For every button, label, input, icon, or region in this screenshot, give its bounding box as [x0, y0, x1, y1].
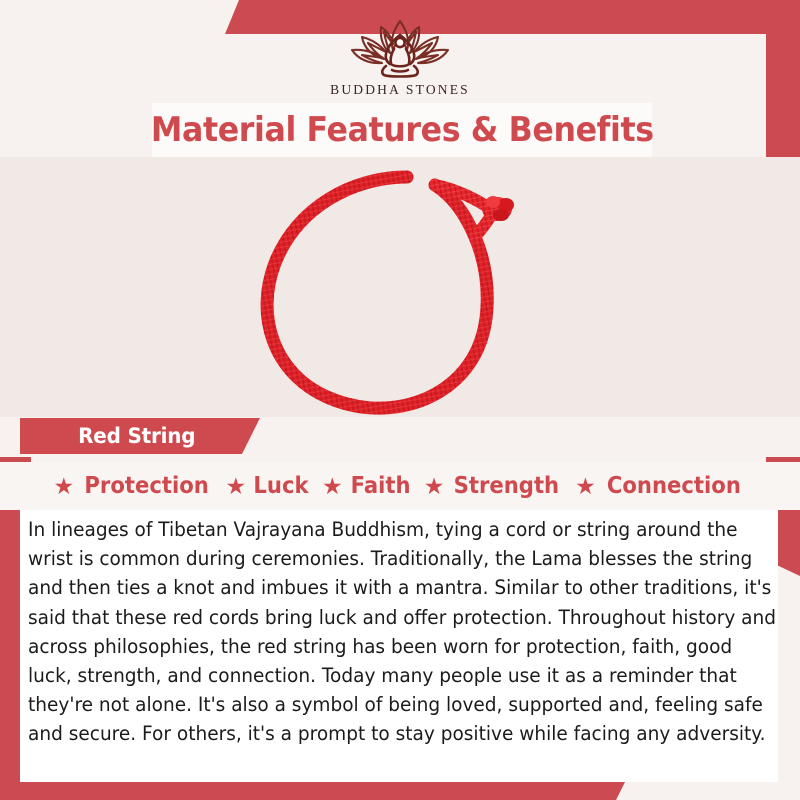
page-title-banner: Material Features & Benefits [152, 103, 652, 157]
feature-label: Protection [85, 473, 209, 499]
product-image-area [0, 157, 800, 425]
brand-logo: BUDDHA STONES [0, 14, 800, 98]
page-title: Material Features & Benefits [151, 110, 654, 150]
feature-label: Connection [607, 473, 741, 499]
lotus-meditation-icon [336, 14, 464, 80]
feature-item-connection: ★ Connection [575, 473, 746, 499]
brand-wordmark: BUDDHA STONES [330, 82, 470, 98]
feature-label: Strength [454, 473, 560, 499]
feature-item-strength: ★ Strength [424, 473, 564, 499]
description-card: In lineages of Tibetan Vajrayana Buddhis… [20, 510, 778, 782]
feature-label: Faith [350, 473, 410, 499]
feature-item-luck: ★ Luck [225, 473, 311, 499]
red-string-bracelet-image [235, 165, 565, 425]
star-icon: ★ [225, 475, 246, 498]
description-text: In lineages of Tibetan Vajrayana Buddhis… [28, 515, 779, 749]
star-icon: ★ [424, 475, 445, 498]
feature-item-protection: ★ Protection [54, 473, 215, 499]
product-label-banner: Red String [20, 418, 260, 454]
star-icon: ★ [54, 475, 75, 498]
star-icon: ★ [322, 475, 343, 498]
star-icon: ★ [575, 475, 596, 498]
feature-item-faith: ★ Faith [322, 473, 413, 499]
infographic-page: BUDDHA STONES Material Features & Benefi… [0, 0, 800, 800]
product-label-text: Red String [78, 424, 195, 448]
feature-label: Luck [253, 473, 308, 499]
bracelet-knot [482, 196, 514, 221]
feature-list: ★ Protection ★ Luck ★ Faith ★ Strength ★… [0, 462, 800, 510]
